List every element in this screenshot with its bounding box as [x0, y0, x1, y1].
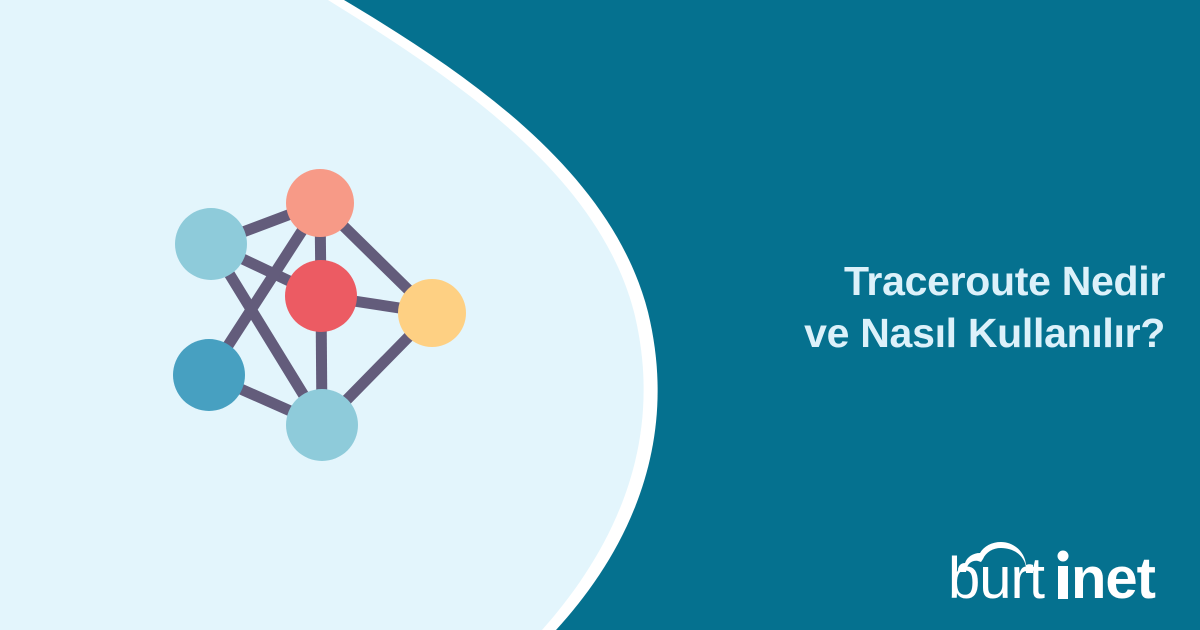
logo-i-stem	[1058, 566, 1068, 599]
graph-node-top-left	[175, 208, 247, 280]
logo-text-light: burt	[948, 546, 1045, 608]
social-banner-canvas: Traceroute Nedir ve Nasıl Kullanılır? bu…	[0, 0, 1200, 630]
graph-node-bottom-center	[286, 389, 358, 461]
logo-text-bold: net	[1071, 546, 1156, 608]
graph-node-right	[398, 279, 466, 347]
graph-node-top-center	[286, 169, 354, 237]
graph-node-center	[285, 260, 357, 332]
title-line-1: Traceroute Nedir	[545, 255, 1165, 307]
network-graph-illustration	[150, 140, 500, 490]
graph-nodes	[173, 169, 466, 461]
brand-logo[interactable]: burt net	[940, 536, 1170, 608]
graph-node-bottom-left	[173, 339, 245, 411]
page-title: Traceroute Nedir ve Nasıl Kullanılır?	[545, 255, 1165, 360]
logo-svg: burt net	[940, 536, 1170, 608]
title-line-2: ve Nasıl Kullanılır?	[545, 307, 1165, 359]
logo-i-dot	[1058, 551, 1069, 562]
